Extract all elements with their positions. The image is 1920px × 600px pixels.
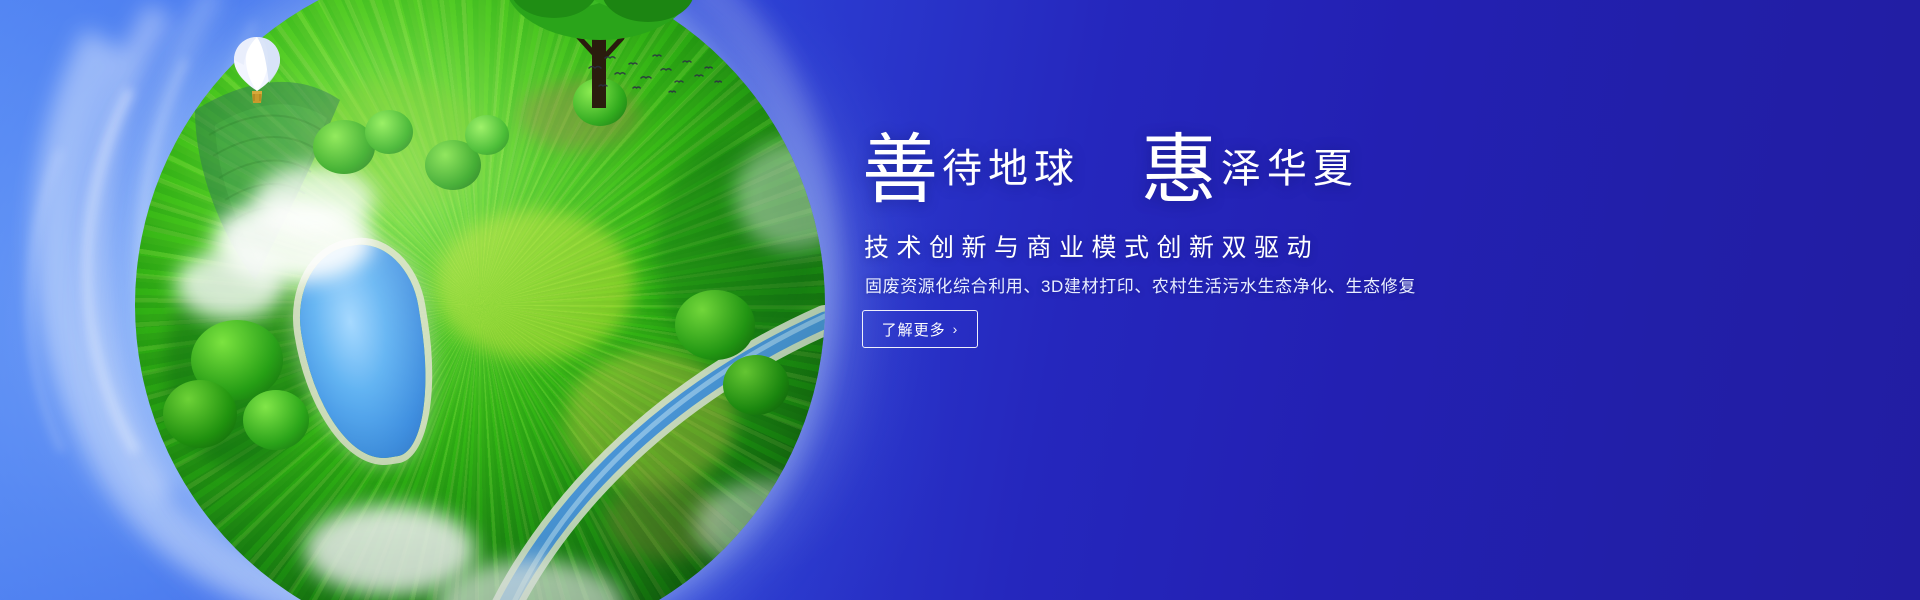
- chevron-right-icon: ›: [953, 322, 959, 336]
- banner-copy: 善待地球 惠泽华夏 技术创新与商业模式创新双驱动 固废资源化综合利用、3D建材打…: [862, 0, 1682, 600]
- flock-of-birds-icon: [585, 48, 725, 96]
- headline-phrase-1-rest: 待地球: [942, 146, 1080, 192]
- headline-phrase-2-lead: 惠: [1141, 125, 1217, 214]
- hero-banner: 善待地球 惠泽华夏 技术创新与商业模式创新双驱动 固废资源化综合利用、3D建材打…: [0, 0, 1920, 600]
- subheading: 技术创新与商业模式创新双驱动: [864, 228, 1319, 264]
- headline-phrase-2-rest: 泽华夏: [1221, 146, 1359, 192]
- learn-more-button[interactable]: 了解更多 ›: [862, 310, 978, 348]
- headline-phrase-2: 惠泽华夏: [1141, 132, 1359, 208]
- headline: 善待地球 惠泽华夏: [862, 132, 1682, 208]
- headline-phrase-1: 善待地球: [862, 132, 1080, 208]
- headline-phrase-1-lead: 善: [862, 125, 938, 214]
- description: 固废资源化综合利用、3D建材打印、农村生活污水生态净化、生态修复: [865, 272, 1416, 297]
- learn-more-label: 了解更多: [882, 319, 946, 340]
- hot-air-balloon-icon: [230, 35, 284, 113]
